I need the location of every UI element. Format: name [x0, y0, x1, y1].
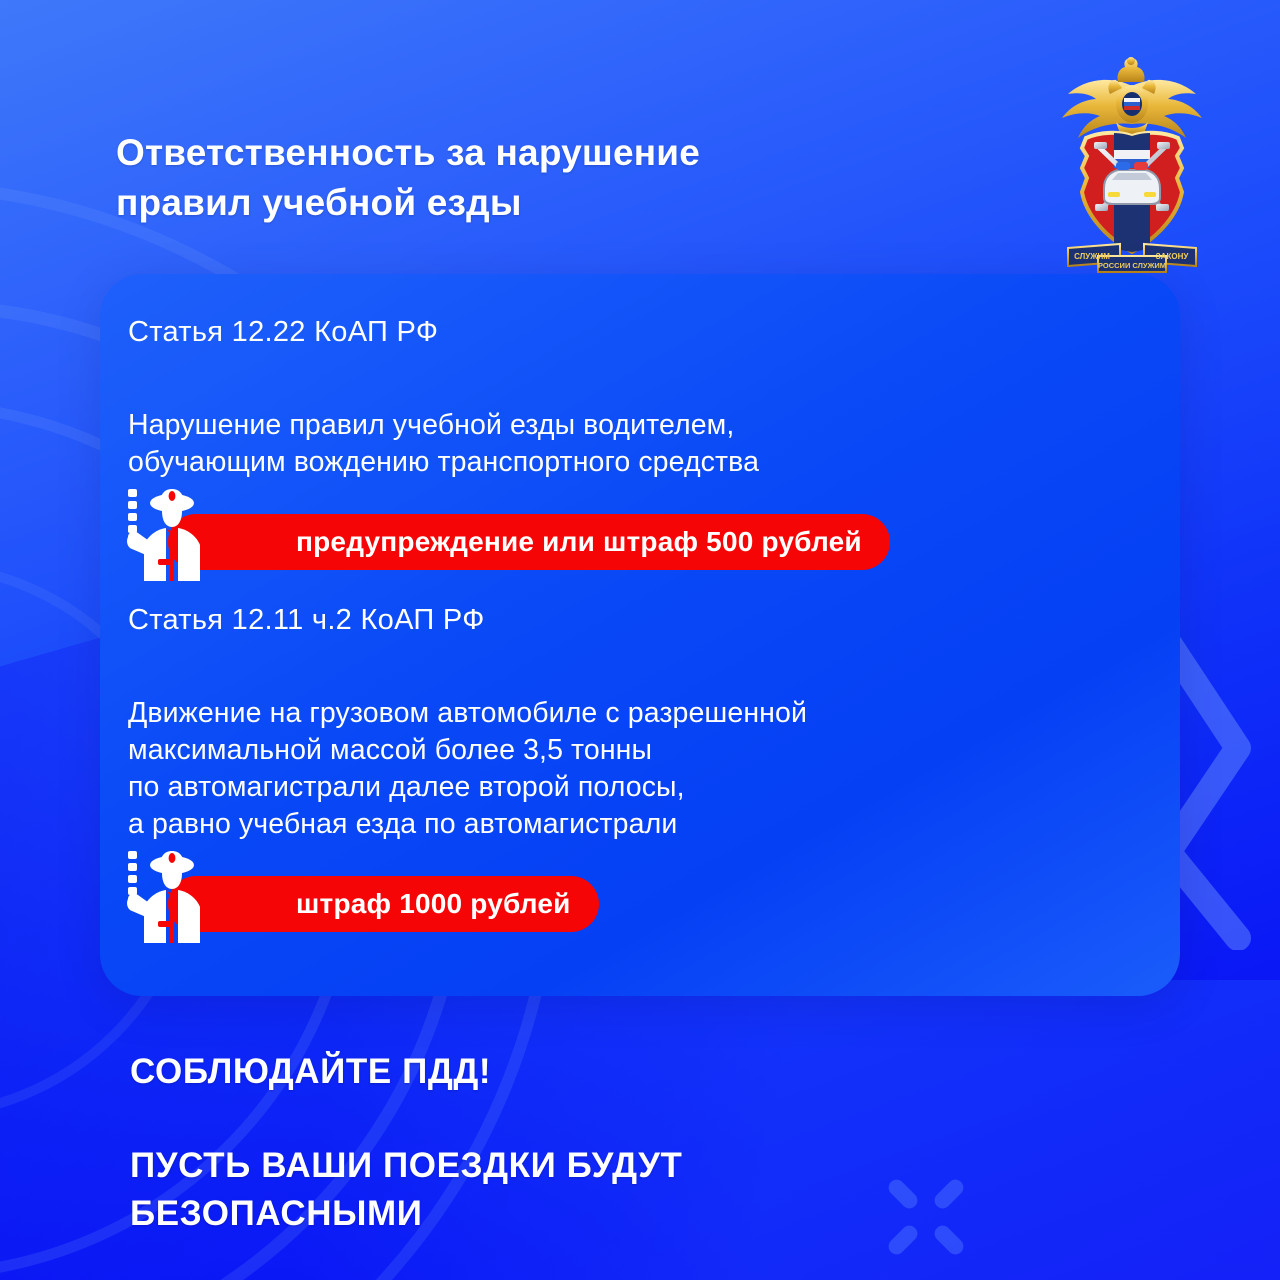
penalty-badge: предупреждение или штраф 500 рублей — [168, 514, 890, 570]
penalties-card: Статья 12.22 КоАП РФ Нарушение правил уч… — [100, 274, 1180, 996]
article-block: Статья 12.22 КоАП РФ Нарушение правил уч… — [100, 316, 1180, 579]
article-body-line: по автомагистрали далее второй полосы, — [128, 769, 1180, 806]
article-body-line: Нарушение правил учебной езды водителем, — [128, 407, 1180, 444]
article-title: Статья 12.22 КоАП РФ — [128, 316, 1180, 349]
poster-root: Ответственность за нарушение правил учеб… — [0, 0, 1280, 1280]
traffic-officer-icon — [114, 849, 226, 945]
emblem-motto-center: РОССИИ СЛУЖИМ — [1098, 261, 1166, 270]
article-title: Статья 12.11 ч.2 КоАП РФ — [128, 604, 1180, 637]
article-block: Статья 12.11 ч.2 КоАП РФ Движение на гру… — [100, 604, 1180, 941]
slogan-primary: СОБЛЮДАЙТЕ ПДД! — [130, 1052, 491, 1092]
emblem-motto-left: СЛУЖИМ — [1074, 252, 1110, 261]
page-title: Ответственность за нарушение правил учеб… — [116, 128, 936, 228]
emblem-motto-right: ЗАКОНУ — [1156, 252, 1190, 261]
page-title-line-2: правил учебной езды — [116, 178, 936, 228]
mvd-emblem-icon: СЛУЖИМ РОССИИ СЛУЖИМ ЗАКОНУ — [1046, 52, 1218, 274]
article-body: Нарушение правил учебной езды водителем,… — [128, 407, 1180, 481]
penalty-row: штраф 1000 рублей — [114, 867, 1180, 941]
article-body-line: Движение на грузовом автомобиле с разреш… — [128, 695, 1180, 732]
slogan-secondary-line-2: БЕЗОПАСНЫМИ — [130, 1190, 682, 1238]
slogan-secondary: ПУСТЬ ВАШИ ПОЕЗДКИ БУДУТ БЕЗОПАСНЫМИ — [130, 1142, 682, 1239]
article-body-line: максимальной массой более 3,5 тонны — [128, 732, 1180, 769]
article-body: Движение на грузовом автомобиле с разреш… — [128, 695, 1180, 843]
traffic-officer-icon — [114, 487, 226, 583]
penalty-row: предупреждение или штраф 500 рублей — [114, 505, 1180, 579]
page-title-line-1: Ответственность за нарушение — [116, 128, 936, 178]
article-body-line: обучающим вождению транспортного средств… — [128, 444, 1180, 481]
article-body-line: а равно учебная езда по автомагистрали — [128, 806, 1180, 843]
slogan-secondary-line-1: ПУСТЬ ВАШИ ПОЕЗДКИ БУДУТ — [130, 1142, 682, 1190]
penalty-badge: штраф 1000 рублей — [168, 876, 599, 932]
